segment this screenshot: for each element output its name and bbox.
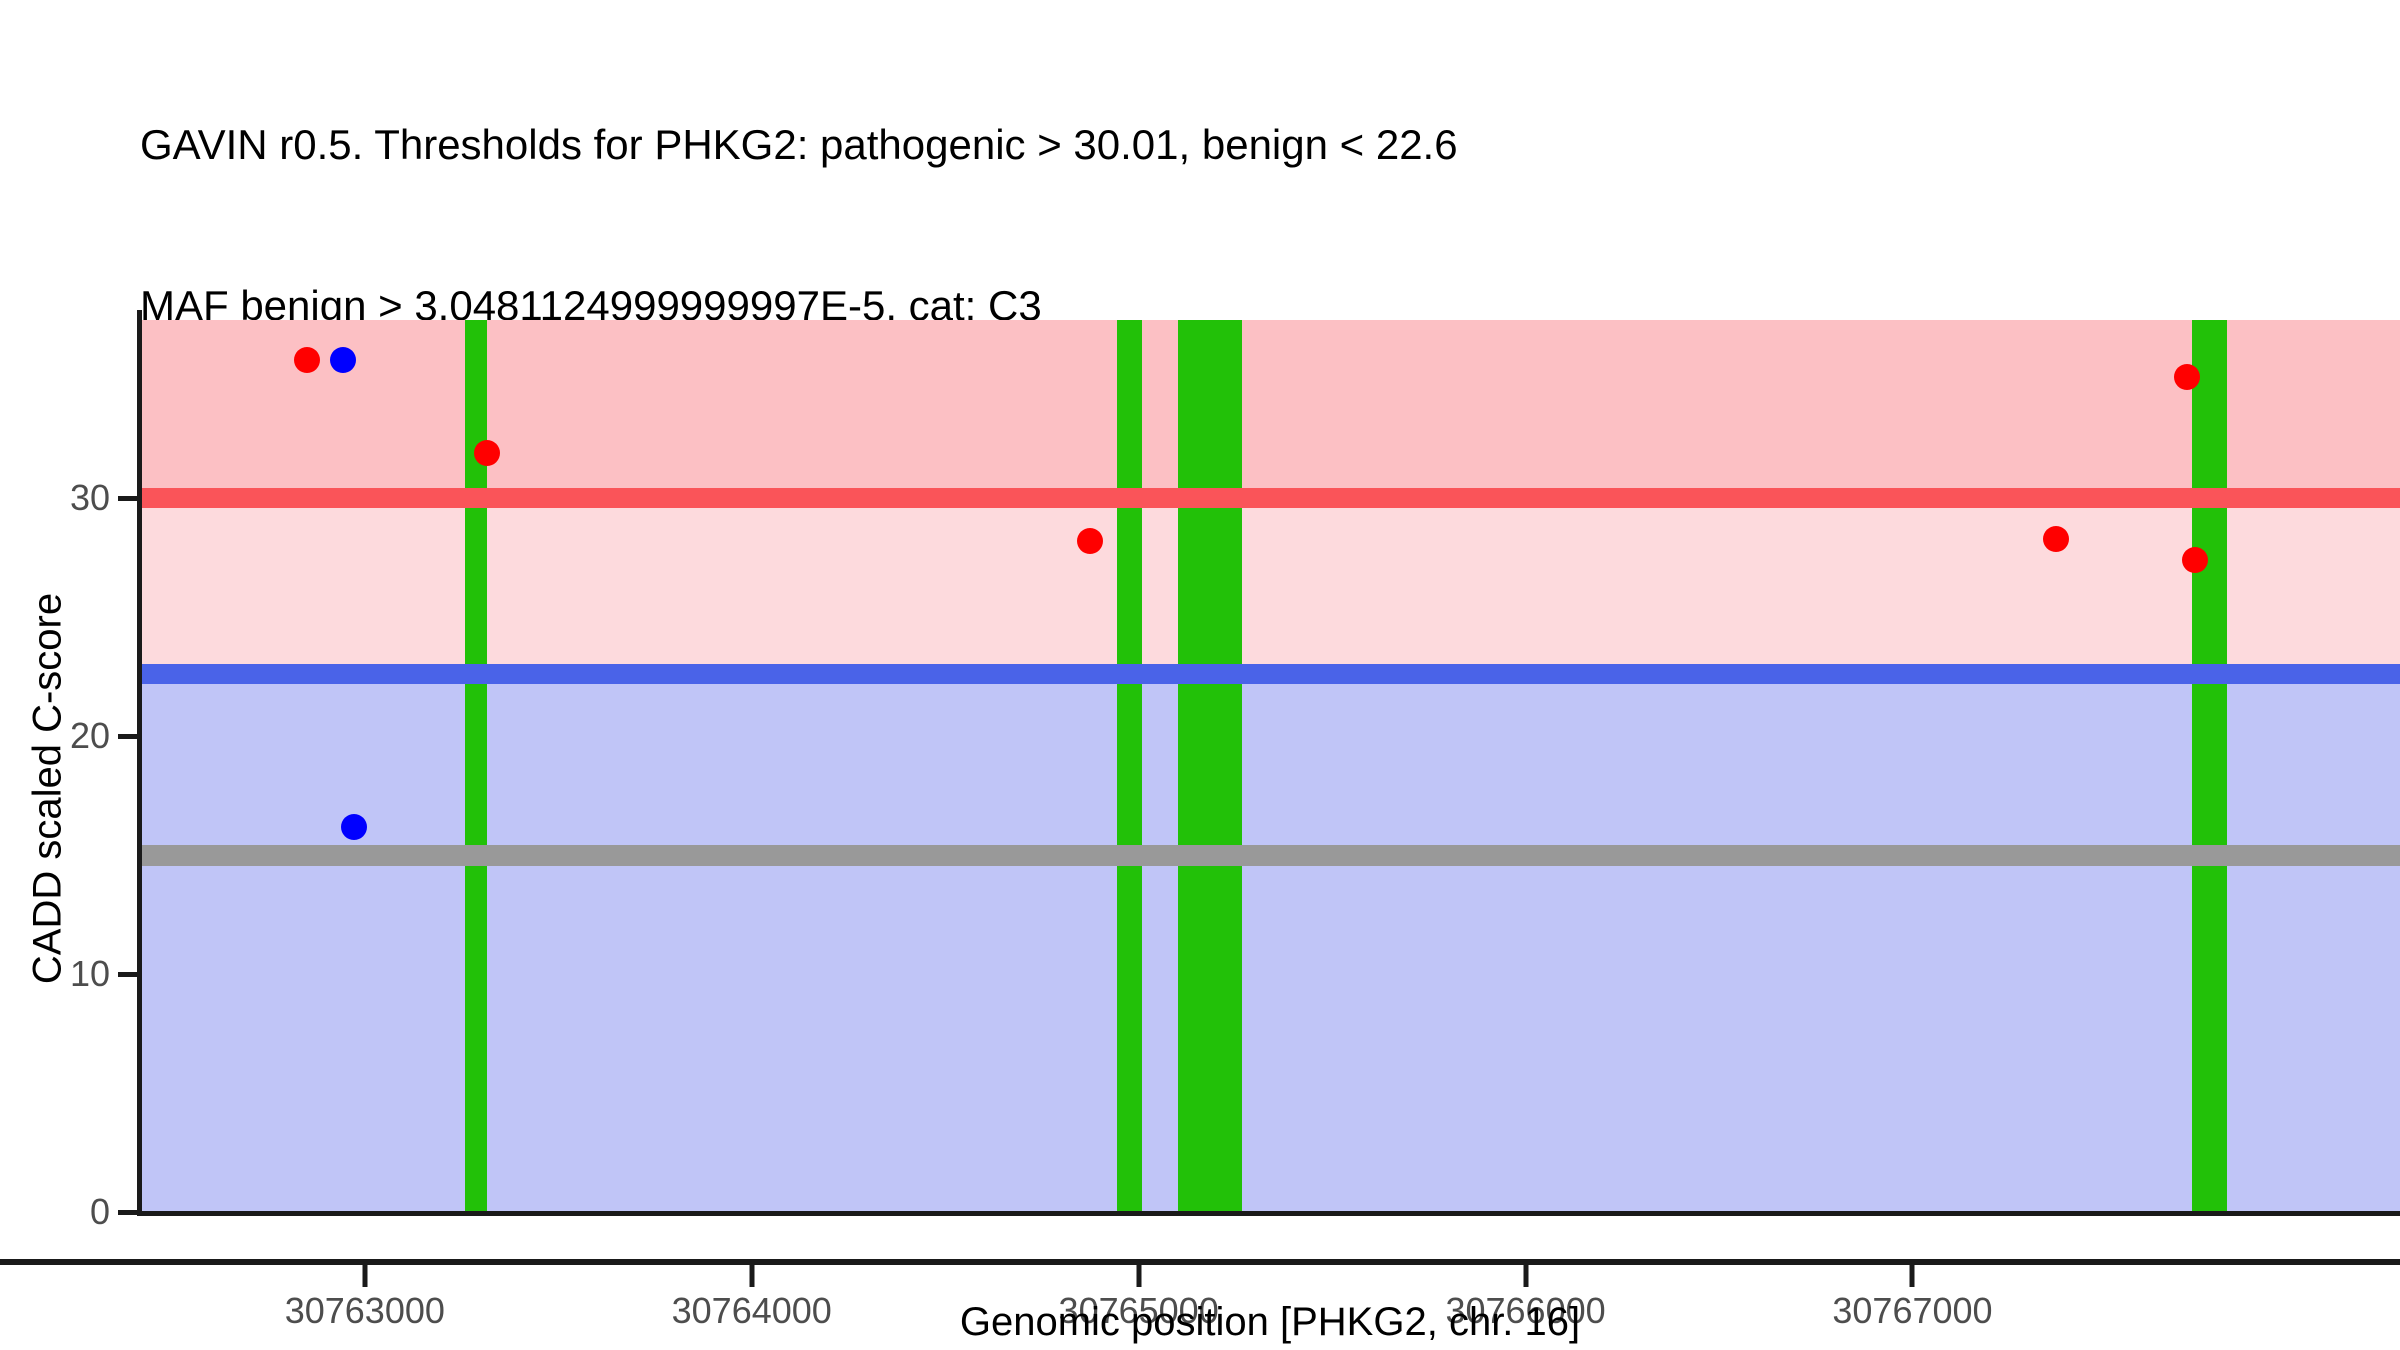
y-tick-mark-10 bbox=[118, 972, 138, 977]
pathogenic-threshold-line bbox=[140, 488, 2400, 508]
y-tick-label-0: 0 bbox=[0, 1191, 110, 1233]
y-axis-label: CADD scaled C-score bbox=[26, 389, 71, 1189]
pathogenic-variant-point-4 bbox=[2043, 526, 2069, 552]
x-tick-mark-30763000 bbox=[362, 1265, 367, 1287]
x-tick-mark-30766000 bbox=[1523, 1265, 1528, 1287]
fallback-threshold-line bbox=[140, 845, 2400, 866]
x-axis-line bbox=[0, 1259, 2400, 1265]
x-tick-mark-30767000 bbox=[1910, 1265, 1915, 1287]
pathogenic-variant-point-1 bbox=[294, 347, 320, 373]
plot-panel bbox=[140, 320, 2400, 1212]
exon-bar-3 bbox=[1178, 320, 1241, 1212]
x-tick-mark-30764000 bbox=[749, 1265, 754, 1287]
x-tick-mark-30765000 bbox=[1136, 1265, 1141, 1287]
x-axis-label: Genomic position [PHKG2, chr. 16] bbox=[140, 1300, 2400, 1345]
exon-bar-2 bbox=[1117, 320, 1142, 1212]
pathogenic-variant-point-6 bbox=[2182, 547, 2208, 573]
y-tick-mark-30 bbox=[118, 496, 138, 501]
panel-bottom-line bbox=[137, 1211, 2400, 1216]
pathogenic-variant-point-3 bbox=[1077, 528, 1103, 554]
exon-bar-4 bbox=[2192, 320, 2227, 1212]
gnomad-variant-point-1 bbox=[330, 347, 356, 373]
title-line-1: GAVIN r0.5. Thresholds for PHKG2: pathog… bbox=[140, 118, 2340, 172]
y-tick-mark-0 bbox=[118, 1210, 138, 1215]
y-axis-line bbox=[137, 310, 142, 1216]
y-tick-mark-20 bbox=[118, 734, 138, 739]
pathogenic-variant-point-2 bbox=[474, 440, 500, 466]
pathogenic-variant-point-5 bbox=[2174, 364, 2200, 390]
benign-threshold-line bbox=[140, 664, 2400, 684]
gnomad-variant-point-2 bbox=[341, 814, 367, 840]
